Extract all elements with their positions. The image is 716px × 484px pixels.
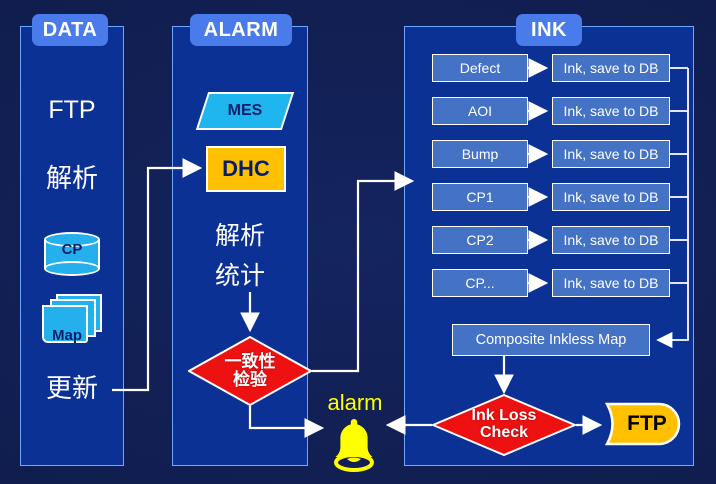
consistency-line-1: 一致性 bbox=[225, 353, 276, 371]
diagram-canvas: FTP 解析 CP Map 更新 MES DHC 解析 统计 一致性 检验 al… bbox=[0, 0, 716, 484]
wire-consistency-to-bell bbox=[250, 406, 322, 428]
wire-consistency-to-ink bbox=[312, 181, 412, 371]
ftp-output-tape: FTP bbox=[604, 402, 682, 446]
ink-loss-line-2: Check bbox=[472, 425, 537, 442]
panel-title-alarm: ALARM bbox=[190, 14, 292, 46]
consistency-line-2: 检验 bbox=[225, 371, 276, 389]
consistency-check-label: 一致性 检验 bbox=[225, 353, 276, 389]
data-cp-label: CP bbox=[44, 241, 100, 258]
wire-db-rail-to-composite bbox=[658, 68, 688, 340]
data-map-label: Map bbox=[44, 327, 90, 344]
panel-title-ink: INK bbox=[516, 14, 582, 46]
ink-loss-check-label: Ink Loss Check bbox=[472, 408, 537, 442]
ink-loss-line-1: Ink Loss bbox=[472, 408, 537, 425]
ftp-output-label: FTP bbox=[604, 402, 682, 446]
panel-title-data: DATA bbox=[32, 14, 108, 46]
ink-row-wires bbox=[528, 68, 688, 340]
wire-update-to-dhc bbox=[112, 168, 200, 390]
